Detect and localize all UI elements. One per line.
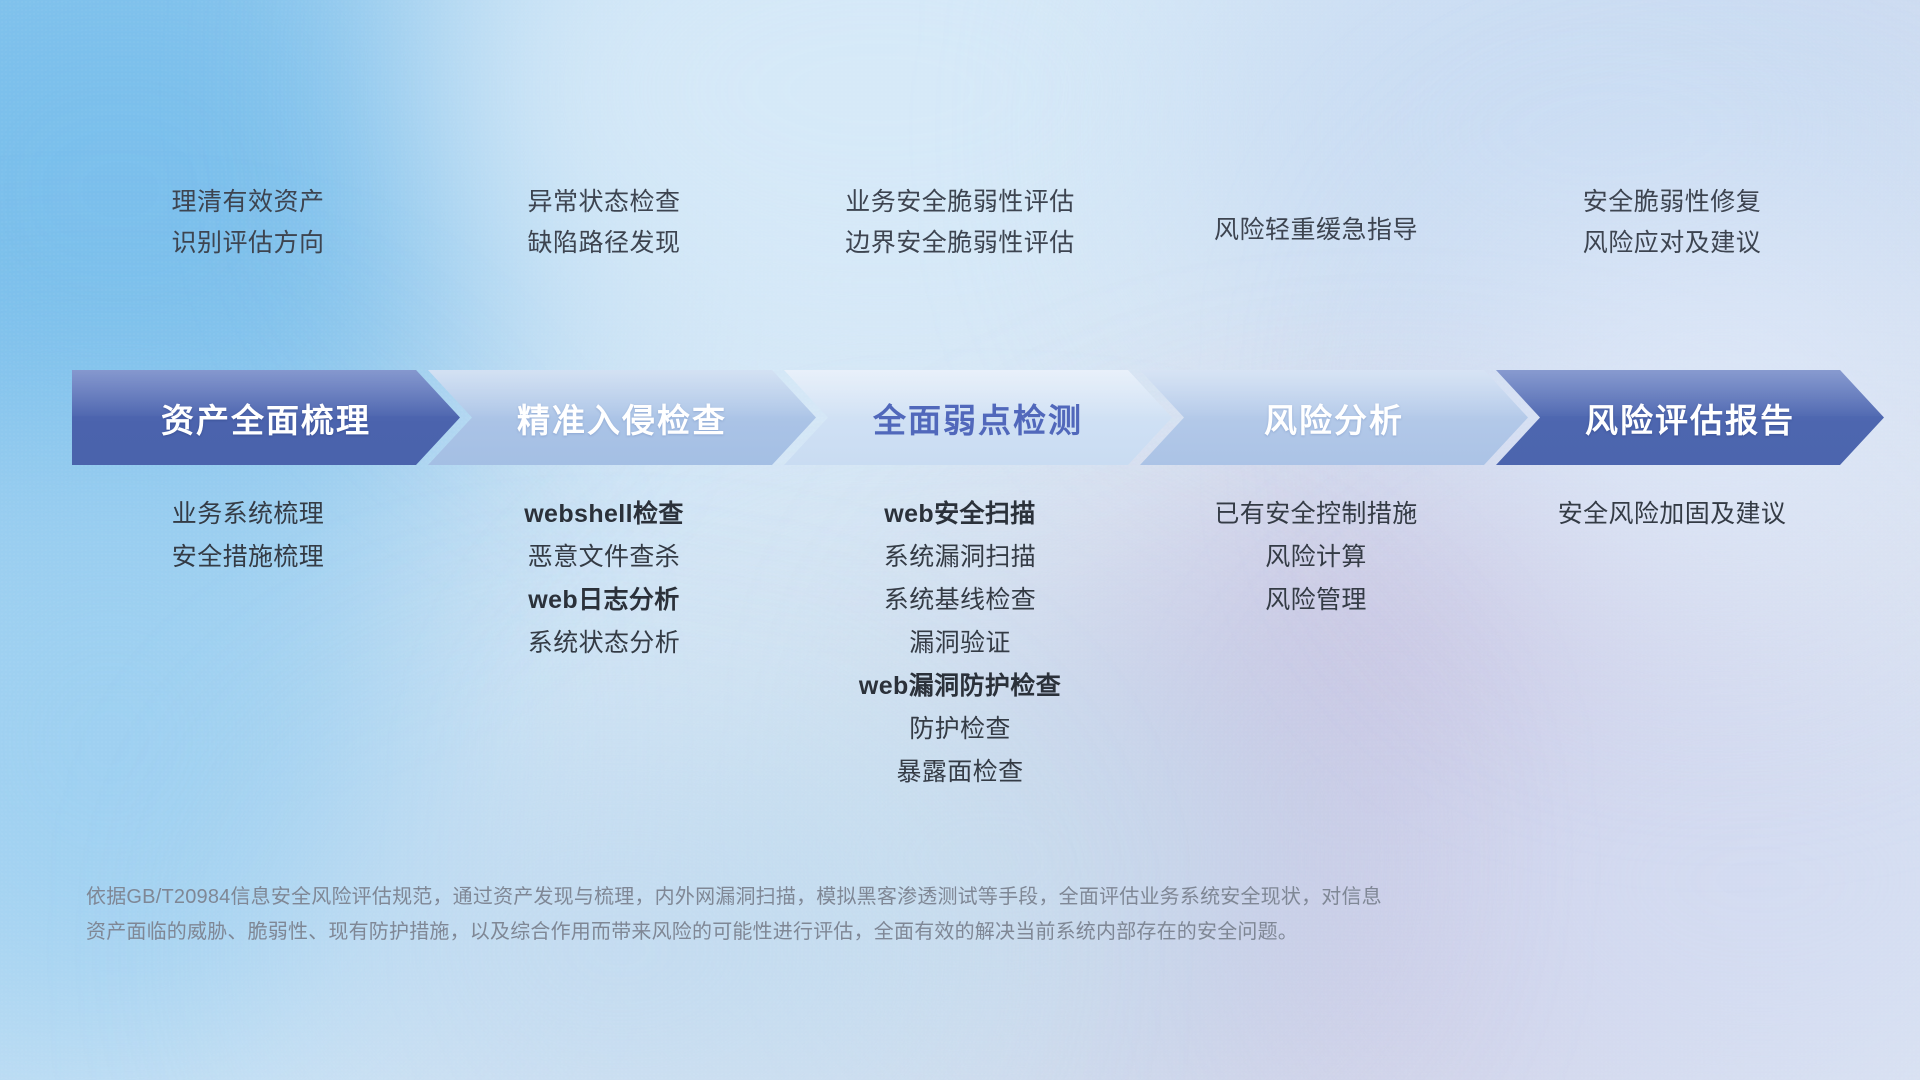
step-asset-inventory-label: 资产全面梳理 — [161, 394, 371, 442]
step-risk-analysis-label: 风险分析 — [1264, 394, 1404, 442]
step-risk-report-chevron[interactable]: 风险评估报告 — [1496, 370, 1884, 465]
top-caption-line: 缺陷路径发现 — [527, 229, 680, 257]
step-intrusion-check-label: 精准入侵检查 — [517, 394, 727, 442]
step-risk-report-label: 风险评估报告 — [1585, 394, 1795, 442]
top-caption-line: 理清有效资产 — [171, 188, 324, 216]
top-caption-line: 安全脆弱性修复 — [1583, 188, 1762, 216]
top-caption-group-3: 业务安全脆弱性评估边界安全脆弱性评估 — [782, 188, 1138, 298]
step-item: 风险管理 — [1265, 586, 1367, 614]
step-item: 已有安全控制措施 — [1214, 500, 1417, 528]
step-asset-inventory-items: 业务系统梳理安全措施梳理 — [70, 500, 426, 571]
step-item: web漏洞防护检查 — [859, 672, 1061, 700]
step-intrusion-check-chevron[interactable]: 精准入侵检查 — [428, 370, 816, 465]
top-caption-line: 识别评估方向 — [171, 229, 324, 257]
step-weakness-detection-label: 全面弱点检测 — [873, 394, 1083, 442]
step-weakness-detection-chevron[interactable]: 全面弱点检测 — [784, 370, 1172, 465]
step-item: webshell检查 — [524, 500, 684, 528]
top-caption-group-1: 理清有效资产识别评估方向 — [70, 188, 426, 298]
step-item: 安全风险加固及建议 — [1558, 500, 1787, 528]
step-risk-analysis-chevron[interactable]: 风险分析 — [1140, 370, 1528, 465]
step-item: 系统漏洞扫描 — [884, 543, 1036, 571]
step-risk-report-items: 安全风险加固及建议 — [1494, 500, 1850, 528]
step-item: web安全扫描 — [884, 500, 1035, 528]
step-item: 暴露面检查 — [896, 758, 1023, 786]
step-item: 系统状态分析 — [528, 629, 680, 657]
step-item: 恶意文件查杀 — [528, 543, 680, 571]
top-caption-line: 风险应对及建议 — [1583, 229, 1762, 257]
top-caption-line: 异常状态检查 — [527, 188, 680, 216]
step-item: 业务系统梳理 — [172, 500, 324, 528]
step-item: 安全措施梳理 — [172, 543, 324, 571]
top-caption-group-4: 风险轻重缓急指导 — [1138, 188, 1494, 298]
step-item: 漏洞验证 — [909, 629, 1011, 657]
step-item: 防护检查 — [909, 715, 1011, 743]
slide-canvas: 理清有效资产识别评估方向异常状态检查缺陷路径发现业务安全脆弱性评估边界安全脆弱性… — [0, 0, 1920, 1080]
footer-line-2: 资产面临的威胁、脆弱性、现有防护措施，以及综合作用而带来风险的可能性进行评估，全… — [86, 915, 1646, 950]
step-weakness-detection-items: web安全扫描系统漏洞扫描系统基线检查漏洞验证web漏洞防护检查防护检查暴露面检… — [782, 500, 1138, 786]
step-risk-analysis-items: 已有安全控制措施风险计算风险管理 — [1138, 500, 1494, 614]
footer-description: 依据GB/T20984信息安全风险评估规范，通过资产发现与梳理，内外网漏洞扫描，… — [86, 880, 1646, 950]
top-captions-row: 理清有效资产识别评估方向异常状态检查缺陷路径发现业务安全脆弱性评估边界安全脆弱性… — [70, 188, 1850, 298]
process-chevron-band: 资产全面梳理精准入侵检查全面弱点检测风险分析风险评估报告 — [72, 370, 1852, 465]
step-item: 系统基线检查 — [884, 586, 1036, 614]
top-caption-line: 风险轻重缓急指导 — [1214, 216, 1418, 244]
top-caption-line: 边界安全脆弱性评估 — [845, 229, 1075, 257]
top-caption-group-2: 异常状态检查缺陷路径发现 — [426, 188, 782, 298]
top-caption-group-5: 安全脆弱性修复风险应对及建议 — [1494, 188, 1850, 298]
footer-line-1: 依据GB/T20984信息安全风险评估规范，通过资产发现与梳理，内外网漏洞扫描，… — [86, 880, 1646, 915]
step-item: web日志分析 — [528, 586, 679, 614]
step-asset-inventory-chevron[interactable]: 资产全面梳理 — [72, 370, 460, 465]
step-item: 风险计算 — [1265, 543, 1367, 571]
top-caption-line: 业务安全脆弱性评估 — [845, 188, 1075, 216]
step-intrusion-check-items: webshell检查恶意文件查杀web日志分析系统状态分析 — [426, 500, 782, 657]
step-items-row: 业务系统梳理安全措施梳理webshell检查恶意文件查杀web日志分析系统状态分… — [70, 500, 1850, 786]
